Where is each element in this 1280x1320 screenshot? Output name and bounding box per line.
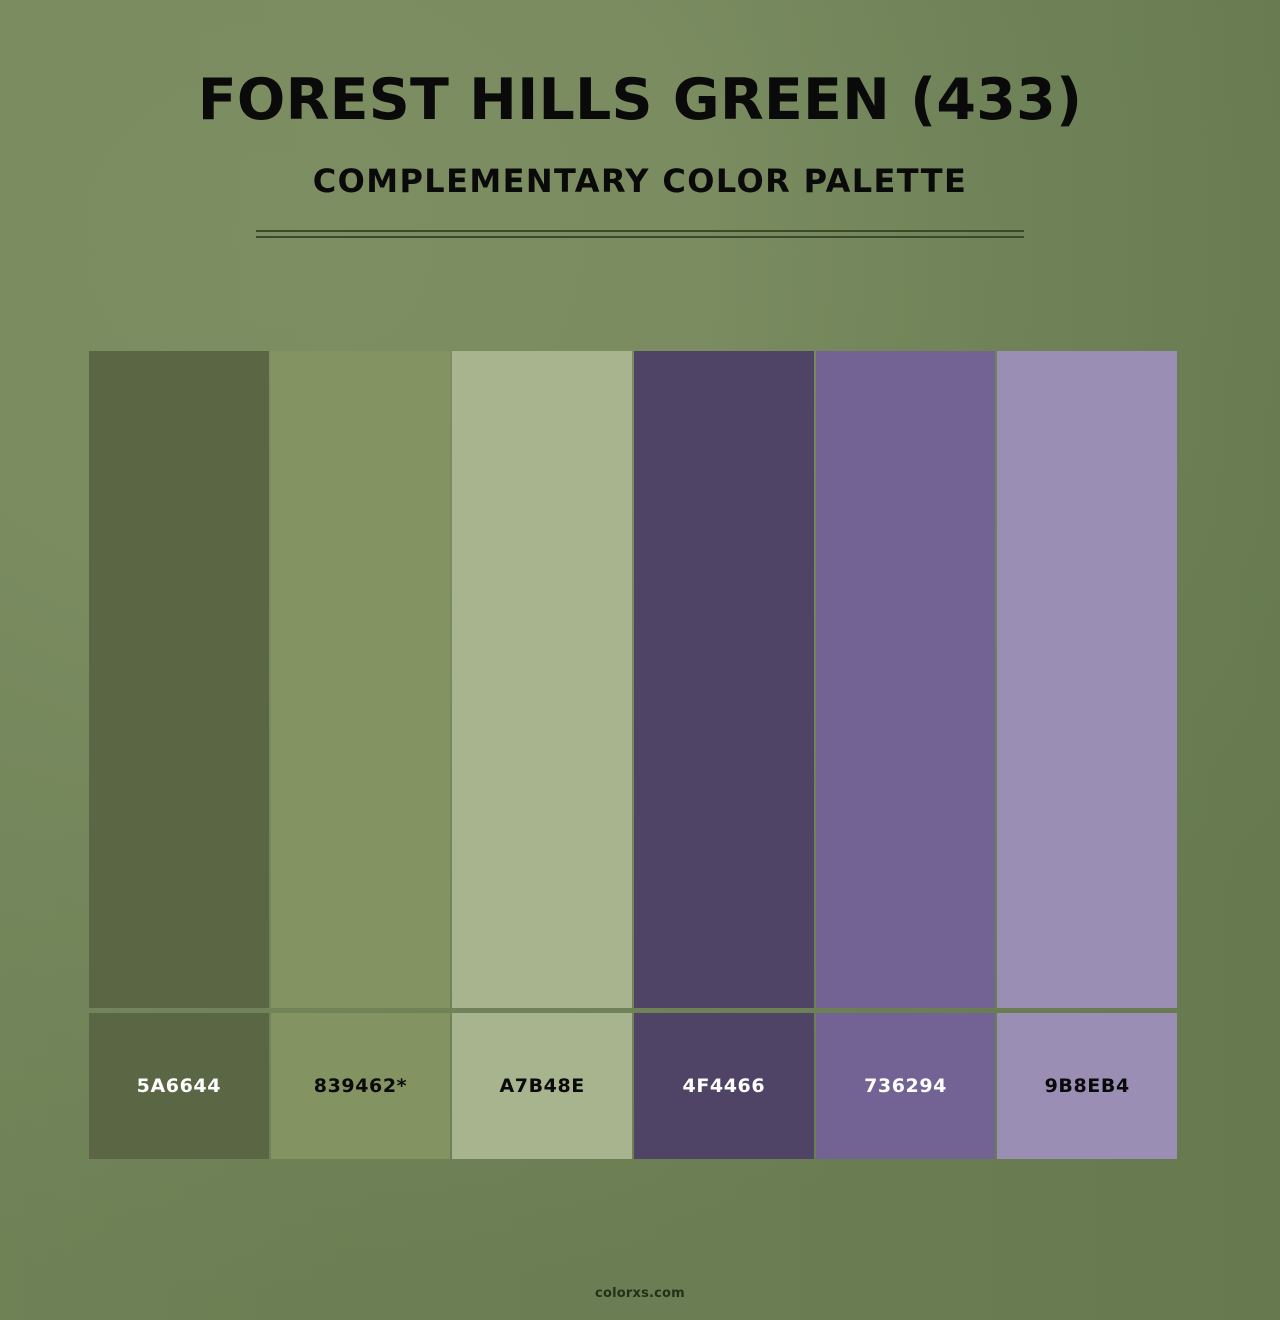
color-hex-label: A7B48E — [499, 1077, 584, 1096]
color-swatch[interactable] — [634, 351, 814, 1008]
color-swatch[interactable] — [816, 351, 996, 1008]
color-label-cell[interactable]: 9B8EB4 — [997, 1013, 1177, 1159]
page-title: FOREST HILLS GREEN (433) — [0, 72, 1280, 129]
color-label-cell[interactable]: 839462* — [271, 1013, 451, 1159]
color-swatch[interactable] — [271, 351, 451, 1008]
color-hex-label: 4F4466 — [683, 1077, 766, 1096]
palette-page: FOREST HILLS GREEN (433) COMPLEMENTARY C… — [0, 0, 1280, 1320]
color-hex-label: 736294 — [864, 1077, 947, 1096]
color-hex-label: 839462* — [314, 1077, 407, 1096]
divider-line-bottom — [256, 236, 1024, 238]
color-swatch[interactable] — [997, 351, 1177, 1008]
color-swatch[interactable] — [452, 351, 632, 1008]
color-palette: 5A6644 839462* A7B48E 4F4466 736294 9B8E… — [89, 351, 1177, 1159]
color-swatch[interactable] — [89, 351, 269, 1008]
color-hex-label: 5A6644 — [137, 1077, 221, 1096]
color-label-cell[interactable]: 4F4466 — [634, 1013, 814, 1159]
color-hex-label: 9B8EB4 — [1045, 1077, 1130, 1096]
divider-line-top — [256, 230, 1024, 232]
color-label-cell[interactable]: 5A6644 — [89, 1013, 269, 1159]
color-label-cell[interactable]: 736294 — [816, 1013, 996, 1159]
title-divider — [256, 230, 1024, 238]
footer-site-name: colorxs.com — [0, 1286, 1280, 1301]
swatch-row — [89, 351, 1177, 1008]
color-label-cell[interactable]: A7B48E — [452, 1013, 632, 1159]
page-subtitle: COMPLEMENTARY COLOR PALETTE — [0, 165, 1280, 197]
swatch-label-row: 5A6644 839462* A7B48E 4F4466 736294 9B8E… — [89, 1013, 1177, 1159]
